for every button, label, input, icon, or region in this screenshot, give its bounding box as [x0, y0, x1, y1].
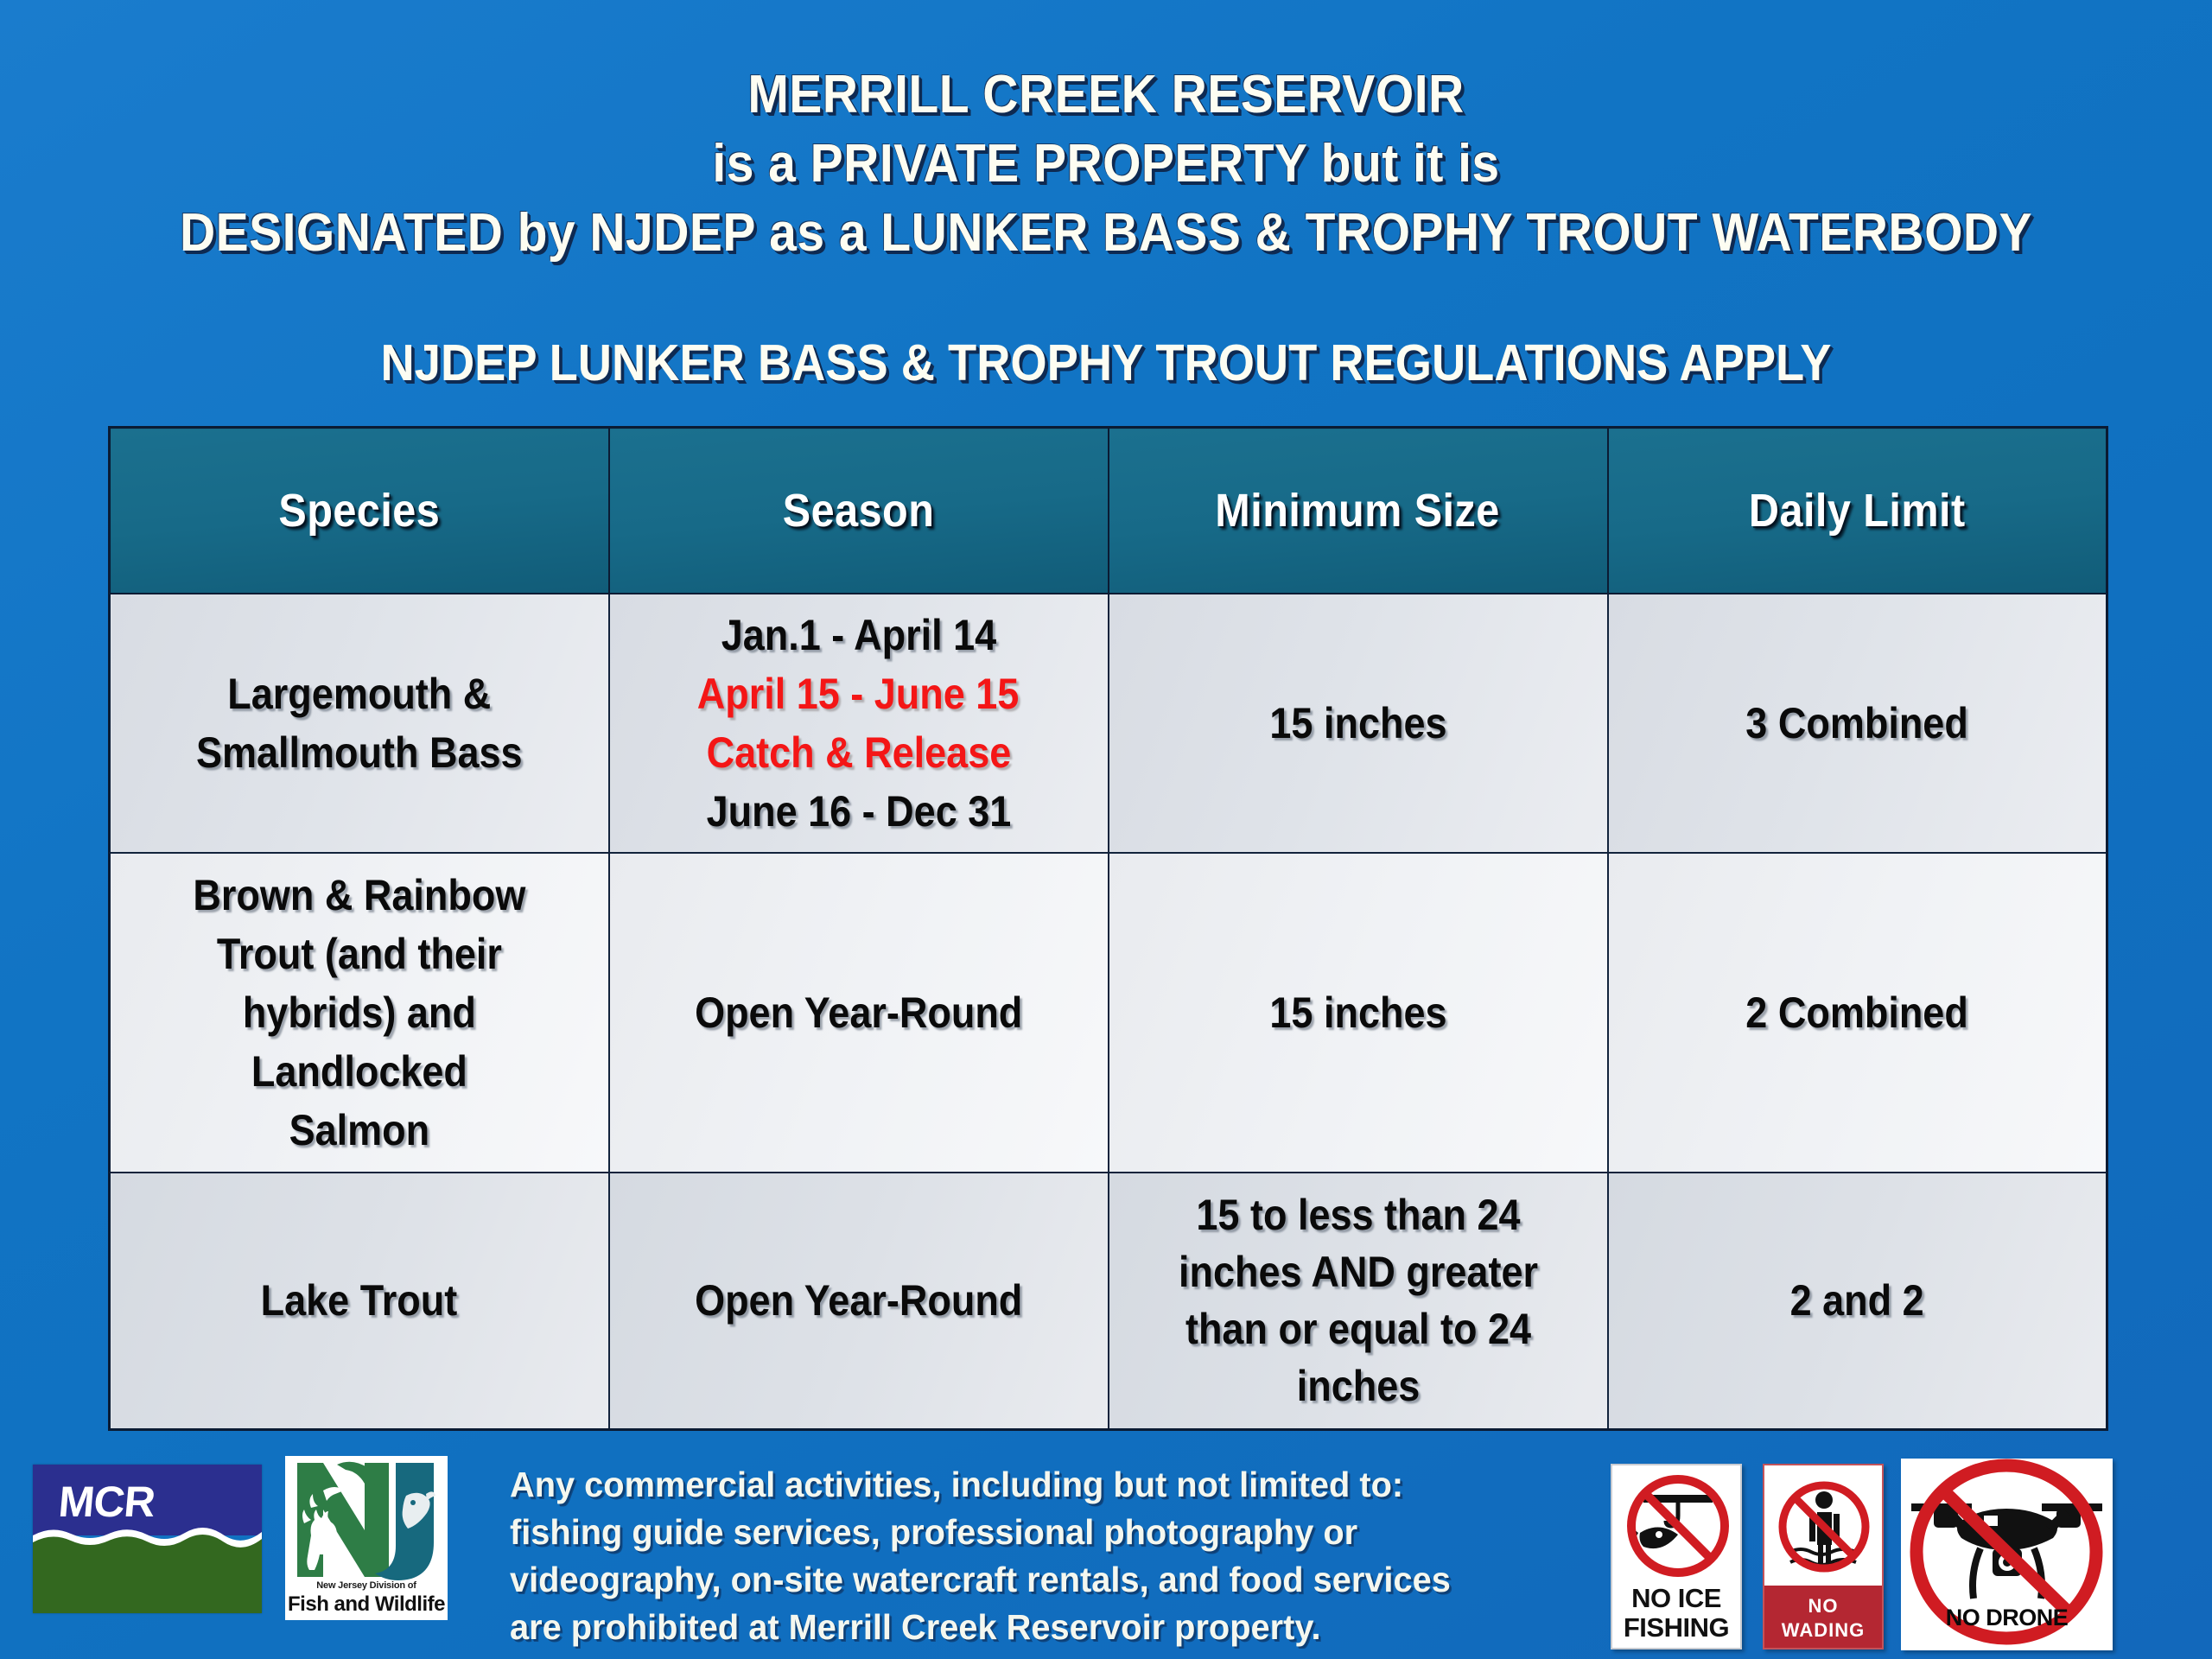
- cell-season-lake-trout: Open Year-Round: [609, 1173, 1109, 1430]
- cell-minimum-size-lake-trout: 15 to less than 24 inches AND greater th…: [1109, 1173, 1608, 1430]
- cell-daily-limit-bass: 3 Combined: [1608, 594, 2107, 853]
- column-header-daily-limit-label: Daily Limit: [1749, 484, 1966, 537]
- season-bass-part-late: June 16 - Dec 31: [706, 782, 1011, 841]
- no-ice-fishing-icon: [1624, 1472, 1732, 1580]
- notice-line-3: videography, on-site watercraft rentals,…: [510, 1556, 1536, 1604]
- cell-daily-limit-trout-salmon: 2 Combined: [1608, 853, 2107, 1173]
- species-trout-salmon-label: Brown & RainbowTrout (and theirhybrids) …: [193, 866, 525, 1160]
- column-header-minimum-size: Minimum Size: [1109, 428, 1608, 594]
- cell-species-trout-salmon: Brown & RainbowTrout (and theirhybrids) …: [110, 853, 609, 1173]
- notice-line-4: are prohibited at Merrill Creek Reservoi…: [510, 1604, 1536, 1651]
- no-ice-fishing-label: NO ICE FISHING: [1612, 1584, 1740, 1643]
- table-row: Largemouth &Smallmouth Bass Jan.1 - Apri…: [110, 594, 2107, 853]
- column-header-season: Season: [609, 428, 1109, 594]
- nj-logo-caption-large: Fish and Wildlife: [285, 1592, 448, 1617]
- season-bass-part-catch-release-dates: April 15 - June 15: [697, 664, 1020, 723]
- table-header-row: Species Season Minimum Size Daily Limit: [110, 428, 2107, 594]
- title-line-1: MERRILL CREEK RESERVOIR: [88, 60, 2123, 130]
- notice-line-1: Any commercial activities, including but…: [510, 1461, 1536, 1509]
- season-lake-trout-label: Open Year-Round: [695, 1271, 1022, 1330]
- minimum-size-bass-label: 15 inches: [1269, 694, 1446, 753]
- cell-species-lake-trout: Lake Trout: [110, 1173, 609, 1430]
- no-wading-label: NO WADING: [1764, 1594, 1882, 1643]
- nj-fish-and-wildlife-logo: New Jersey Division of Fish and Wildlife: [285, 1456, 448, 1620]
- no-wading-sign: NO WADING: [1763, 1464, 1884, 1649]
- column-header-daily-limit: Daily Limit: [1608, 428, 2107, 594]
- minimum-size-lake-trout-label: 15 to less than 24 inches AND greater th…: [1145, 1186, 1571, 1414]
- nj-logo-caption-small: New Jersey Division of: [285, 1580, 448, 1591]
- season-trout-salmon-label: Open Year-Round: [695, 983, 1022, 1042]
- mcr-logo-land: [33, 1542, 262, 1613]
- table-row: Brown & RainbowTrout (and theirhybrids) …: [110, 853, 2107, 1173]
- cell-minimum-size-trout-salmon: 15 inches: [1109, 853, 1608, 1173]
- daily-limit-trout-salmon-label: 2 Combined: [1745, 983, 1968, 1042]
- season-bass-part-catch-release-label: Catch & Release: [706, 723, 1011, 782]
- fishing-regulations-table: Species Season Minimum Size Daily Limit …: [108, 426, 2108, 1431]
- mcr-logo-water-wave-icon: [33, 1523, 262, 1553]
- species-lake-trout-label: Lake Trout: [261, 1271, 458, 1330]
- no-drone-sign: NO DRONE: [1901, 1459, 2113, 1650]
- species-bass-label: Largemouth &Smallmouth Bass: [196, 664, 523, 782]
- cell-season-trout-salmon: Open Year-Round: [609, 853, 1109, 1173]
- title-line-2: is a PRIVATE PROPERTY but it is: [88, 130, 2123, 199]
- subtitle-regulations-apply: NJDEP LUNKER BASS & TROPHY TROUT REGULAT…: [88, 332, 2123, 394]
- cell-daily-limit-lake-trout: 2 and 2: [1608, 1173, 2107, 1430]
- cell-season-bass: Jan.1 - April 14 April 15 - June 15 Catc…: [609, 594, 1109, 853]
- no-ice-fishing-sign: NO ICE FISHING: [1611, 1464, 1742, 1649]
- no-drone-label: NO DRONE: [1901, 1605, 2113, 1631]
- daily-limit-lake-trout-label: 2 and 2: [1790, 1271, 1924, 1330]
- column-header-species-label: Species: [278, 484, 440, 537]
- commercial-activities-notice: Any commercial activities, including but…: [510, 1461, 1536, 1651]
- mcr-logo-text: MCR: [56, 1477, 156, 1527]
- no-wading-icon: [1778, 1472, 1870, 1581]
- column-header-minimum-size-label: Minimum Size: [1216, 484, 1500, 537]
- title-line-3: DESIGNATED by NJDEP as a LUNKER BASS & T…: [88, 199, 2123, 268]
- column-header-season-label: Season: [783, 484, 935, 537]
- column-header-species: Species: [110, 428, 609, 594]
- mcr-logo: MCR: [33, 1465, 262, 1613]
- no-ice-fishing-label-line2: FISHING: [1612, 1613, 1740, 1643]
- no-ice-fishing-label-line1: NO ICE: [1612, 1584, 1740, 1613]
- cell-species-bass: Largemouth &Smallmouth Bass: [110, 594, 609, 853]
- daily-limit-bass-label: 3 Combined: [1745, 694, 1968, 753]
- cell-minimum-size-bass: 15 inches: [1109, 594, 1608, 853]
- table-row: Lake Trout Open Year-Round 15 to less th…: [110, 1173, 2107, 1430]
- season-bass-part: Jan.1 - April 14: [721, 606, 995, 664]
- minimum-size-trout-salmon-label: 15 inches: [1269, 983, 1446, 1042]
- notice-line-2: fishing guide services, professional pho…: [510, 1509, 1536, 1556]
- poster-header: MERRILL CREEK RESERVOIR is a PRIVATE PRO…: [0, 0, 2212, 394]
- no-wading-label-line2: WADING: [1764, 1618, 1882, 1643]
- no-wading-label-line1: NO: [1764, 1594, 1882, 1618]
